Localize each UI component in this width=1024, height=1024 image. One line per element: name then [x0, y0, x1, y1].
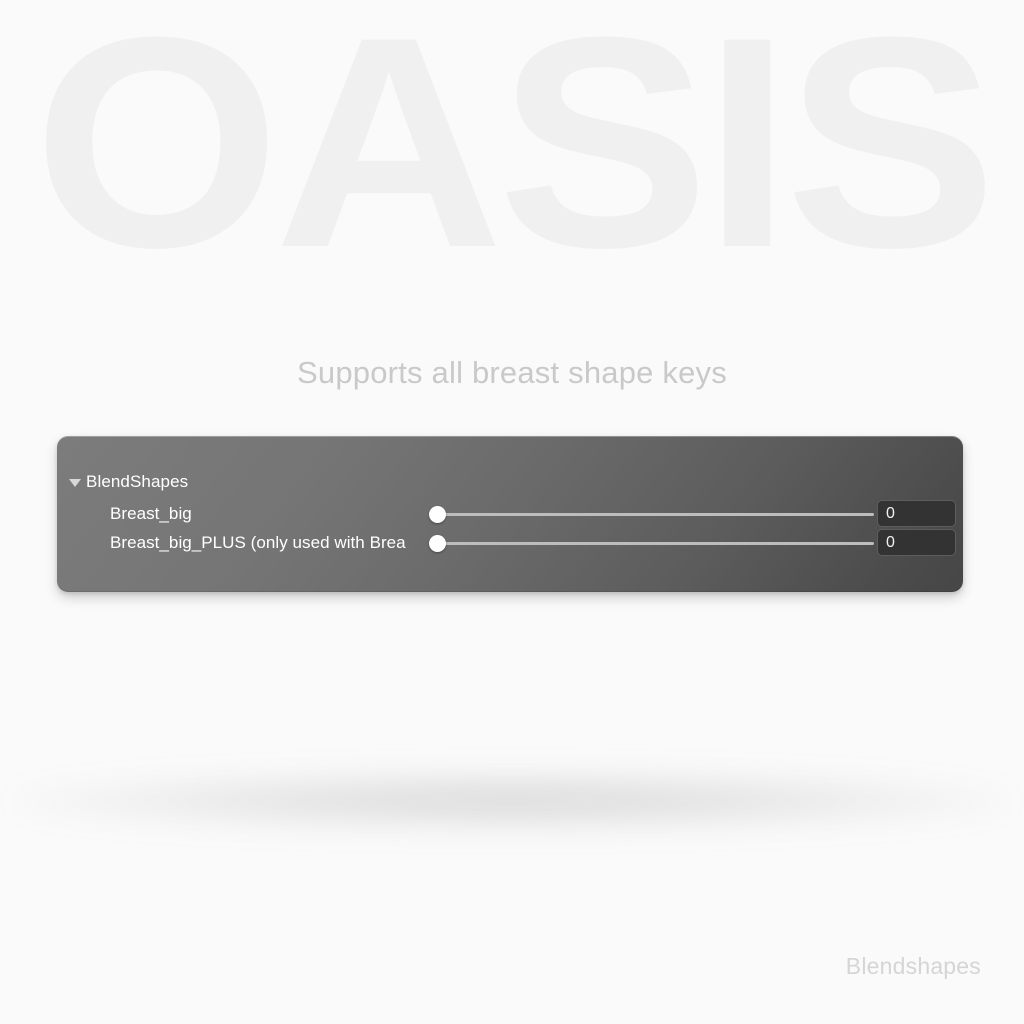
property-label: Breast_big_PLUS (only used with Brea: [110, 533, 406, 553]
slider-track[interactable]: [437, 513, 874, 516]
value-text: 0: [886, 506, 895, 522]
value-field-breast-big-plus[interactable]: 0: [877, 529, 956, 556]
slider-handle[interactable]: [429, 535, 446, 552]
slider-breast-big-plus[interactable]: [437, 533, 874, 553]
value-field-breast-big[interactable]: 0: [877, 500, 956, 527]
section-label: BlendShapes: [86, 472, 188, 492]
triangle-down-icon[interactable]: [69, 479, 81, 487]
slider-track[interactable]: [437, 542, 874, 545]
oasis-watermark: OASIS: [0, 0, 1024, 292]
table-row: Breast_big_PLUS (only used with Brea 0: [57, 528, 963, 557]
value-text: 0: [886, 535, 895, 551]
subtitle-text: Supports all breast shape keys: [0, 352, 1024, 394]
table-row: Breast_big 0: [57, 499, 963, 528]
section-header-blendshapes[interactable]: BlendShapes: [57, 470, 188, 494]
corner-caption: Blendshapes: [846, 953, 981, 980]
slider-handle[interactable]: [429, 506, 446, 523]
floor-shadow: [12, 772, 1012, 830]
slider-breast-big[interactable]: [437, 504, 874, 524]
property-label: Breast_big: [110, 504, 192, 524]
blendshapes-inspector-panel: BlendShapes Breast_big 0 Breast_big_PLUS…: [57, 436, 963, 592]
